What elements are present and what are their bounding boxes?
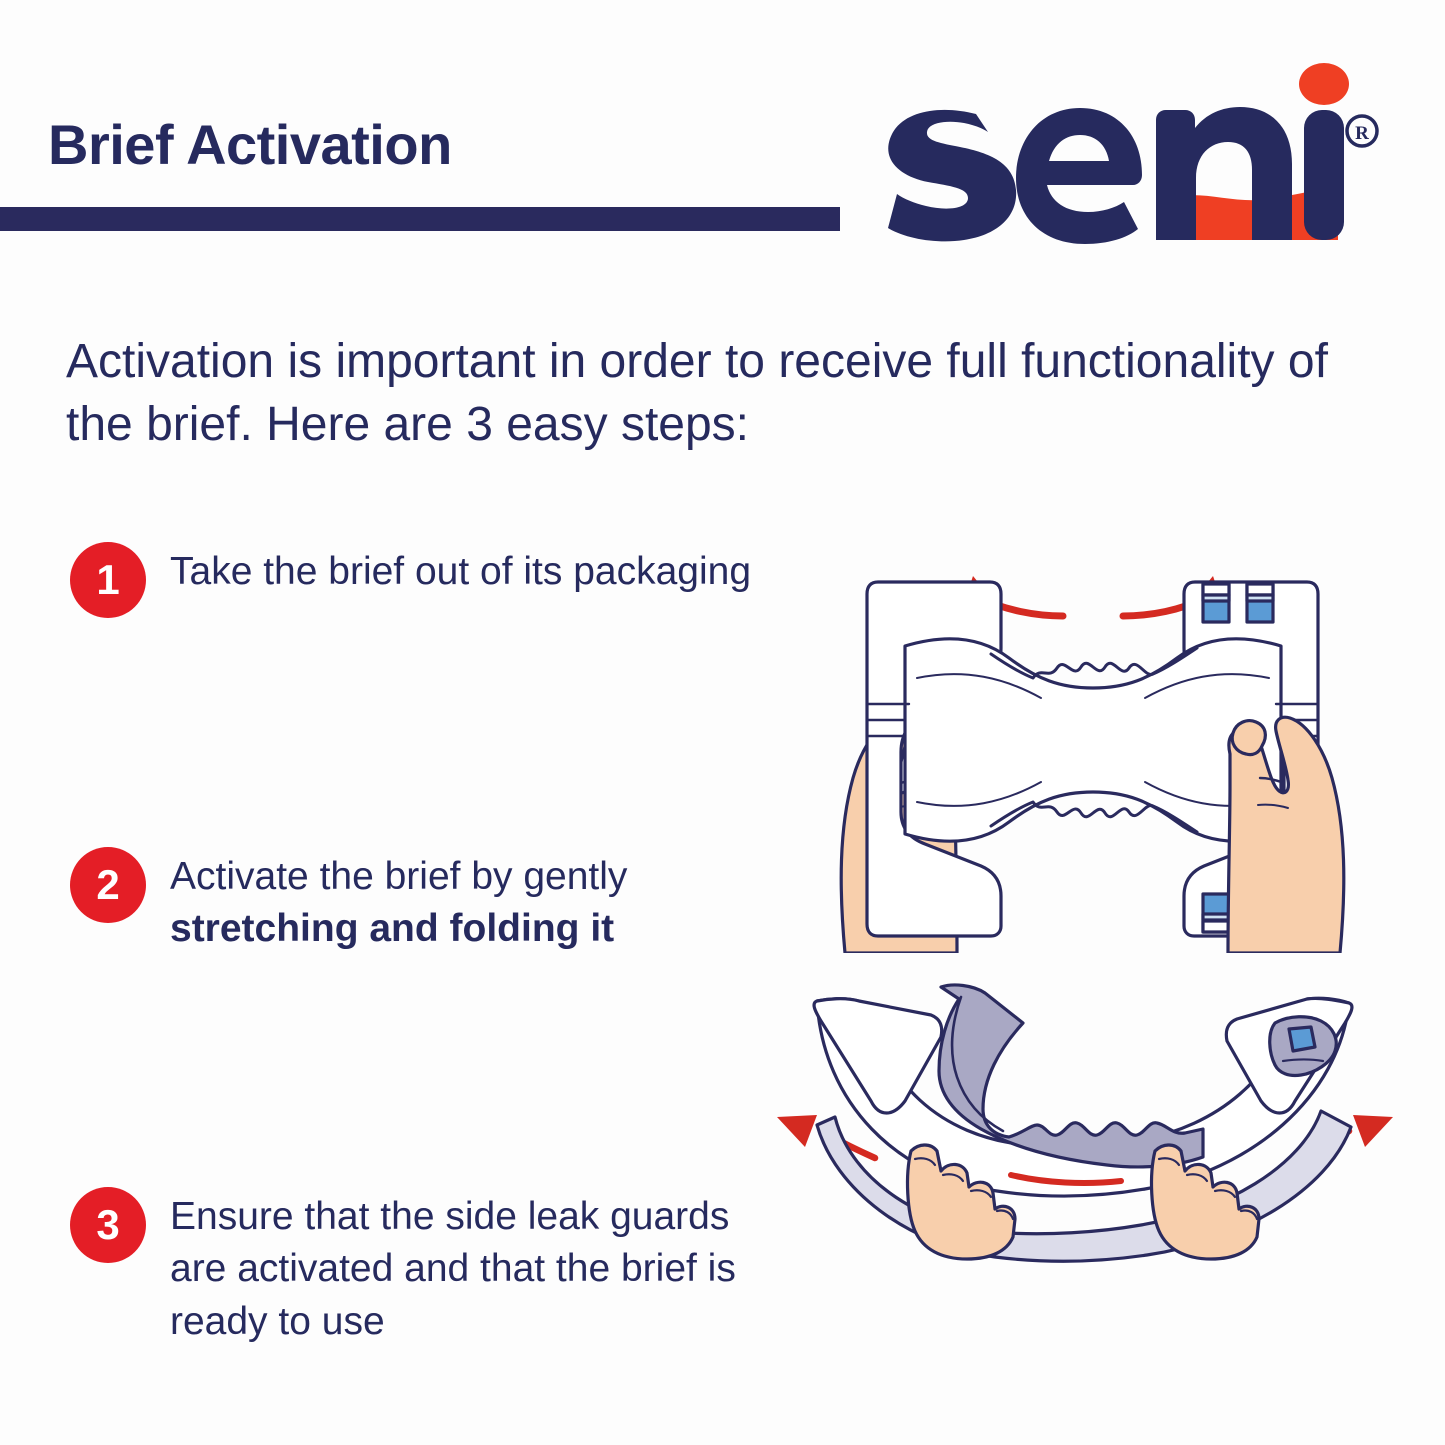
step-item-3: 3 Ensure that the side leak guards are a… xyxy=(70,1185,790,1348)
svg-text:R: R xyxy=(1355,123,1369,144)
registered-trademark-icon: R xyxy=(1347,116,1377,146)
fastener-tab-top-2 xyxy=(1247,584,1273,622)
step-text-2-emphasis: stretching and folding it xyxy=(170,907,614,950)
step-number-badge-3: 3 xyxy=(70,1187,146,1263)
steps-list: 1 Take the brief out of its packaging 2 … xyxy=(0,0,800,1445)
logo-letter-e xyxy=(1016,108,1142,244)
logo-letter-i-dot xyxy=(1299,63,1349,105)
hand-right xyxy=(1228,717,1344,953)
step-number-badge-2: 2 xyxy=(70,847,146,923)
step-text-3-plain: Ensure that the side leak guards are act… xyxy=(170,1195,736,1343)
seni-logo: R seni ® xyxy=(880,58,1380,258)
step-text-3: Ensure that the side leak guards are act… xyxy=(170,1185,790,1348)
logo-letter-i-stem xyxy=(1304,110,1344,240)
step-number-badge-1: 1 xyxy=(70,542,146,618)
fastener-tab-bottom-1 xyxy=(1203,894,1229,932)
step-text-2: Activate the brief by gently stretching … xyxy=(170,845,790,956)
logo-letter-s xyxy=(888,110,1016,242)
illustration-hands-stretching-brief: Two hands holding and stretching an inco… xyxy=(805,528,1380,953)
fastener-tab-top-1 xyxy=(1203,584,1229,622)
step-item-1: 1 Take the brief out of its packaging xyxy=(70,540,790,618)
step-item-2: 2 Activate the brief by gently stretchin… xyxy=(70,845,790,956)
infographic-page: Brief Activation R xyxy=(0,0,1445,1445)
step-text-1: Take the brief out of its packaging xyxy=(170,540,751,598)
step-text-1-plain: Take the brief out of its packaging xyxy=(170,550,751,593)
illustration-hands-folding-brief: The brief folded into a cup shape held f… xyxy=(755,975,1415,1290)
step-text-2-plain: Activate the brief by gently xyxy=(170,855,627,898)
